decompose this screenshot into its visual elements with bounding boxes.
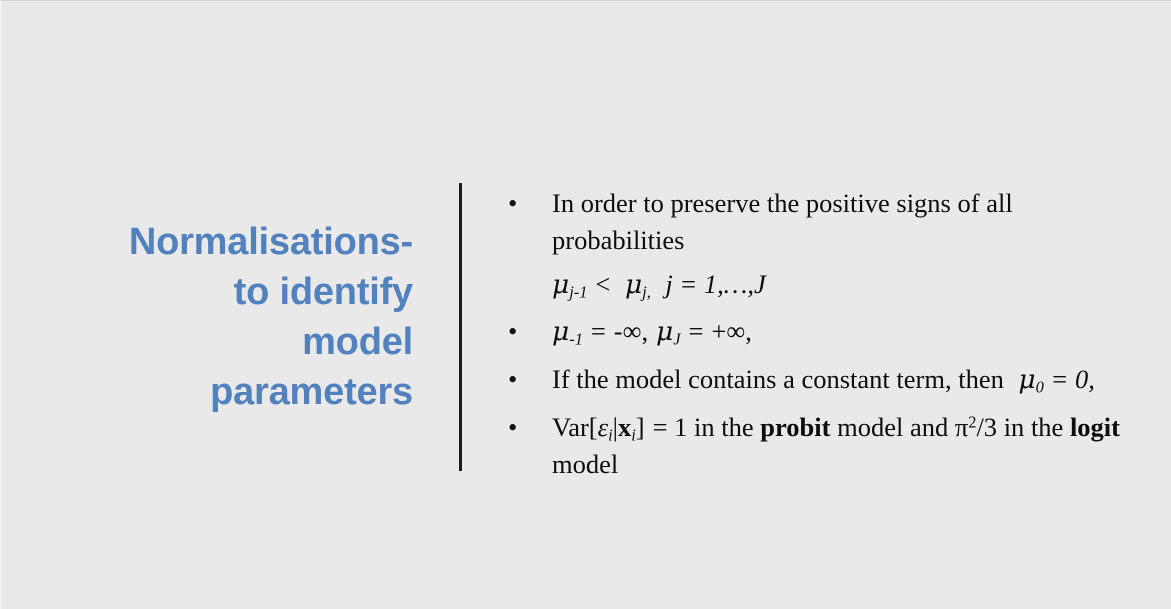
- bullet-4-model: model: [552, 449, 618, 479]
- title-line-1: Normalisations-: [58, 217, 413, 267]
- bullet-4-the: the: [1031, 412, 1063, 442]
- mu-symbol: μ: [1018, 364, 1035, 395]
- bullet-dot-icon: •: [508, 409, 517, 446]
- list-item: • If the model contains a constant term,…: [494, 361, 1142, 398]
- mu-symbol: μ: [552, 269, 569, 300]
- less-than-operator: <: [595, 269, 610, 299]
- list-item: • In order to preserve the positive sign…: [494, 185, 1142, 259]
- bullet-4-and: model and: [837, 412, 948, 442]
- variance-operator: Var[: [552, 412, 598, 442]
- x-vector-symbol: x: [618, 412, 631, 442]
- mu-subscript-J: J: [673, 330, 680, 349]
- slide-canvas: Normalisations- to identify model parame…: [0, 0, 1171, 609]
- title-line-3: model: [58, 317, 413, 367]
- index-range: j = 1,…,J: [665, 269, 765, 299]
- title-line-2: to identify: [58, 267, 413, 317]
- probit-emphasis: probit: [760, 412, 830, 442]
- bullet-list: • In order to preserve the positive sign…: [494, 185, 1142, 483]
- bullet-1-formula: μj-1<μj,j = 1,…,J: [494, 266, 1142, 303]
- mu-symbol: μ: [552, 316, 569, 347]
- bullet-4-mid: = 1 in the: [653, 412, 754, 442]
- bullet-2-formula: μ-1=-∞,μJ=+∞,: [552, 313, 1142, 350]
- bullet-3-text: If the model contains a constant term, t…: [552, 361, 1142, 398]
- mu-subscript-j: j,: [642, 283, 651, 302]
- list-item: • Var[εi|xi]= 1 in the probit model and …: [494, 409, 1142, 483]
- mu-subscript-minus-1: -1: [569, 330, 583, 349]
- bullet-4-text: Var[εi|xi]= 1 in the probit model and π2…: [552, 409, 1142, 483]
- mu-subscript-j-minus-1: j-1: [569, 283, 587, 302]
- bullet-dot-icon: •: [508, 313, 517, 350]
- mu-subscript-0: 0: [1036, 378, 1044, 397]
- slide-title: Normalisations- to identify model parame…: [58, 217, 413, 417]
- bullet-dot-icon: •: [508, 185, 517, 222]
- close-bracket: ]: [636, 412, 645, 442]
- formula-mu-ordering: μj-1<μj,j = 1,…,J: [552, 269, 766, 299]
- mu-symbol: μ: [625, 269, 642, 300]
- vertical-divider: [459, 183, 462, 471]
- positive-infinity: +∞,: [711, 316, 751, 346]
- list-item: • μ-1=-∞,μJ=+∞,: [494, 313, 1142, 350]
- pi-symbol: π: [955, 412, 968, 442]
- bullet-3-tail: = 0,: [1050, 364, 1094, 394]
- bullet-4-in: in: [1004, 412, 1025, 442]
- negative-infinity: -∞,: [614, 316, 648, 346]
- title-line-4: parameters: [58, 367, 413, 417]
- bullet-1-text: In order to preserve the positive signs …: [552, 185, 1142, 259]
- mu-zero-term: μ0: [1018, 364, 1043, 394]
- equals-operator: =: [689, 316, 704, 346]
- divided-by-three: /3: [976, 412, 997, 442]
- bullet-3-lead: If the model contains a constant term, t…: [552, 364, 1004, 394]
- epsilon-symbol: ε: [598, 412, 608, 442]
- equals-operator: =: [591, 316, 606, 346]
- pi-squared-term: π2/3: [955, 412, 997, 442]
- mu-symbol: μ: [656, 316, 673, 347]
- logit-emphasis: logit: [1070, 412, 1120, 442]
- bullet-dot-icon: •: [508, 361, 517, 398]
